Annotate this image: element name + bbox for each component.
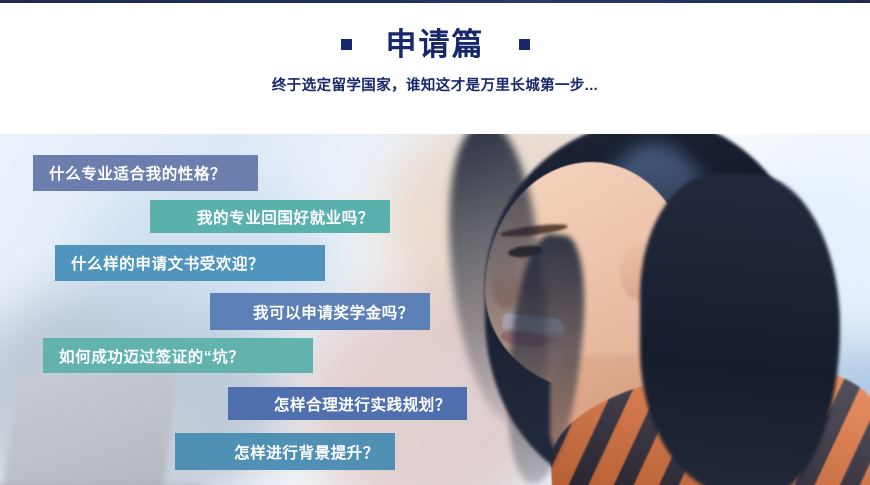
bubble-major-employment[interactable]: 我的专业回国好就业吗？ xyxy=(150,200,390,233)
bubble-visa-pitfalls[interactable]: 如何成功迈过签证的“坑？ xyxy=(43,338,313,373)
question-bubble-list: 什么专业适合我的性格？我的专业回国好就业吗？什么样的申请文书受欢迎？我可以申请奖… xyxy=(0,134,870,485)
hero-photo: 什么专业适合我的性格？我的专业回国好就业吗？什么样的申请文书受欢迎？我可以申请奖… xyxy=(0,134,870,485)
square-bullet-right-icon xyxy=(519,39,530,50)
banner-header: 申请篇 终于选定留学国家，谁知这才是万里长城第一步... xyxy=(0,3,870,134)
page-title: 申请篇 xyxy=(386,29,485,60)
promo-banner: 申请篇 终于选定留学国家，谁知这才是万里长城第一步... xyxy=(0,0,870,485)
page-subtitle: 终于选定留学国家，谁知这才是万里长城第一步... xyxy=(272,74,598,95)
bubble-practice-plan[interactable]: 怎样合理进行实践规划？ xyxy=(228,387,467,420)
bubble-application-essay[interactable]: 什么样的申请文书受欢迎？ xyxy=(55,245,325,281)
bubble-major-personality[interactable]: 什么专业适合我的性格？ xyxy=(33,155,258,191)
square-bullet-left-icon xyxy=(341,39,352,50)
bubble-scholarship[interactable]: 我可以申请奖学金吗？ xyxy=(210,293,430,330)
bubble-background-boost[interactable]: 怎样进行背景提升？ xyxy=(175,433,395,470)
title-row: 申请篇 xyxy=(341,29,530,60)
